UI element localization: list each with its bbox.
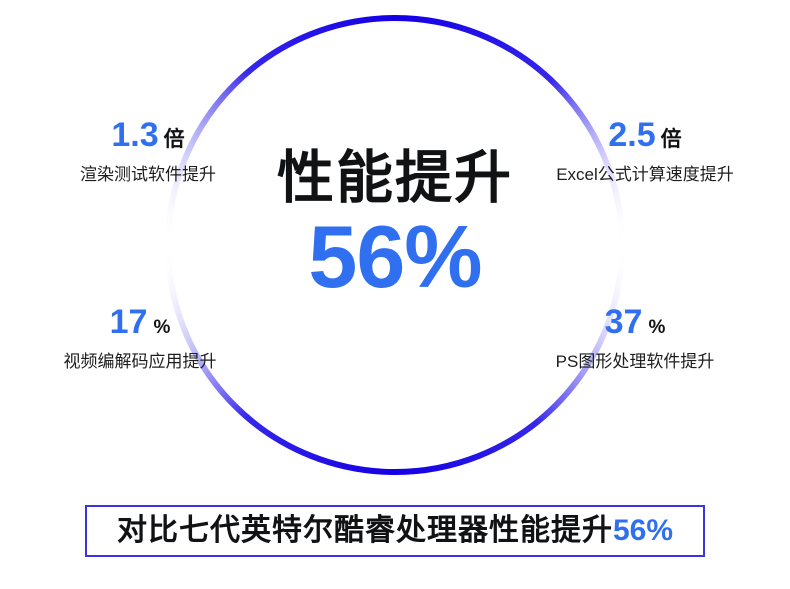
stat-figure: 37% (525, 305, 745, 339)
stat-number: 37 (605, 303, 643, 341)
stat-top-right: 2.5倍 Excel公式计算速度提升 (520, 118, 770, 183)
stat-unit: % (648, 317, 665, 338)
stat-unit: % (153, 317, 170, 338)
banner-accent-value: 56% (613, 514, 673, 547)
stat-figure: 2.5倍 (520, 118, 770, 152)
stat-figure: 17% (40, 305, 240, 339)
stat-number: 17 (110, 303, 148, 341)
banner-text: 对比七代英特尔酷睿处理器性能提升 (117, 514, 613, 547)
stat-bottom-left: 17% 视频编解码应用提升 (40, 305, 240, 370)
stat-label: 渲染测试软件提升 (58, 166, 238, 183)
stat-unit: 倍 (164, 128, 185, 151)
stat-top-left: 1.3倍 渲染测试软件提升 (58, 118, 238, 183)
stat-number: 2.5 (608, 116, 655, 154)
stat-bottom-right: 37% PS图形处理软件提升 (525, 305, 745, 370)
stat-label: PS图形处理软件提升 (525, 353, 745, 370)
stat-figure: 1.3倍 (58, 118, 238, 152)
banner-text-wrap: 对比七代英特尔酷睿处理器性能提升56% (117, 514, 673, 548)
stat-label: 视频编解码应用提升 (40, 353, 240, 370)
stat-number: 1.3 (111, 116, 158, 154)
stat-label: Excel公式计算速度提升 (520, 166, 770, 183)
center-value: 56% (0, 212, 790, 302)
performance-infographic: 性能提升 56% 1.3倍 渲染测试软件提升 2.5倍 Excel公式计算速度提… (0, 0, 790, 589)
summary-banner: 对比七代英特尔酷睿处理器性能提升56% (85, 505, 705, 557)
stat-unit: 倍 (661, 128, 682, 151)
